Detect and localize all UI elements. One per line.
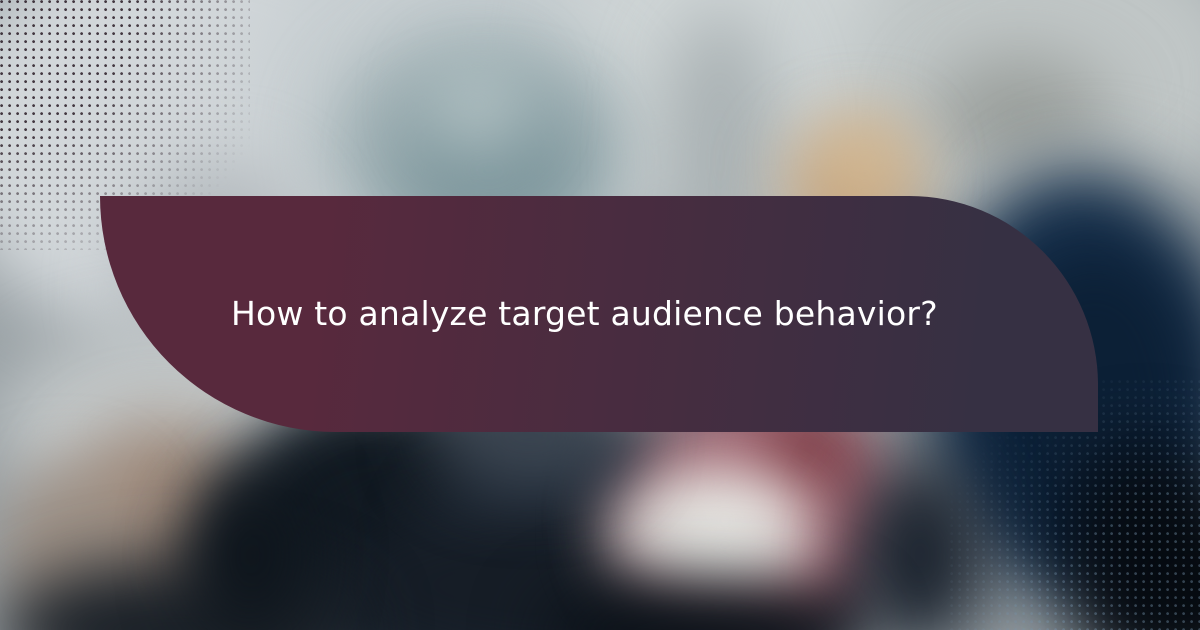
page-title: How to analyze target audience behavior? (100, 293, 1058, 334)
hero-banner-card: How to analyze target audience behavior? (0, 0, 1200, 630)
title-banner: How to analyze target audience behavior? (100, 196, 1098, 432)
